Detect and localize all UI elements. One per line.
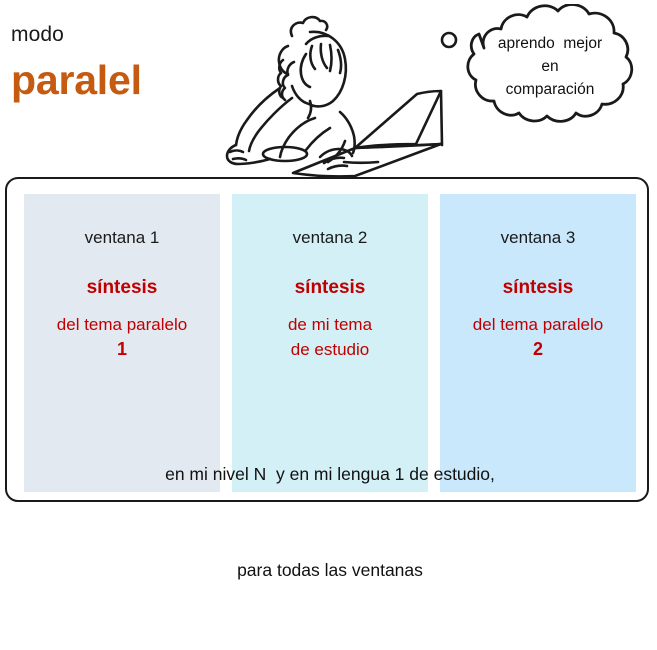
synthesis-label-2: síntesis	[232, 276, 428, 300]
parallel-mode-panel: ventana 1 síntesis del tema paralelo 1 v…	[5, 177, 649, 502]
thought-bubble-text: aprendo mejor en comparación	[469, 32, 631, 101]
window-label-1: ventana 1	[24, 227, 220, 249]
title-block: modo paralel	[11, 22, 221, 104]
panel-caption-line-2: para todas las ventanas	[24, 554, 636, 586]
person-studying-at-laptop-icon	[214, 2, 454, 177]
window-description-1-line-2: 1	[24, 337, 220, 362]
synthesis-label-1: síntesis	[24, 276, 220, 300]
synthesis-label-3: síntesis	[440, 276, 636, 300]
window-description-2-line-1: de mi tema	[232, 312, 428, 337]
window-label-3: ventana 3	[440, 227, 636, 249]
bubble-line-2: en	[469, 55, 631, 78]
panel-caption-line-1: en mi nivel N y en mi lengua 1 de estudi…	[24, 458, 636, 490]
window-description-3-line-2: 2	[440, 337, 636, 362]
panel-caption: en mi nivel N y en mi lengua 1 de estudi…	[24, 394, 636, 650]
header-area: modo paralel	[0, 0, 657, 177]
window-description-2-line-2: de estudio	[232, 337, 428, 362]
mode-label: modo	[11, 22, 221, 48]
window-description-1: del tema paralelo 1	[24, 312, 220, 362]
window-label-2: ventana 2	[232, 227, 428, 249]
window-description-3-line-1: del tema paralelo	[440, 312, 636, 337]
bubble-line-3: comparación	[469, 78, 631, 101]
mode-name: paralel	[11, 56, 221, 104]
window-description-3: del tema paralelo 2	[440, 312, 636, 362]
window-description-2: de mi tema de estudio	[232, 312, 428, 362]
bubble-line-1: aprendo mejor	[469, 32, 631, 55]
window-description-1-line-1: del tema paralelo	[24, 312, 220, 337]
